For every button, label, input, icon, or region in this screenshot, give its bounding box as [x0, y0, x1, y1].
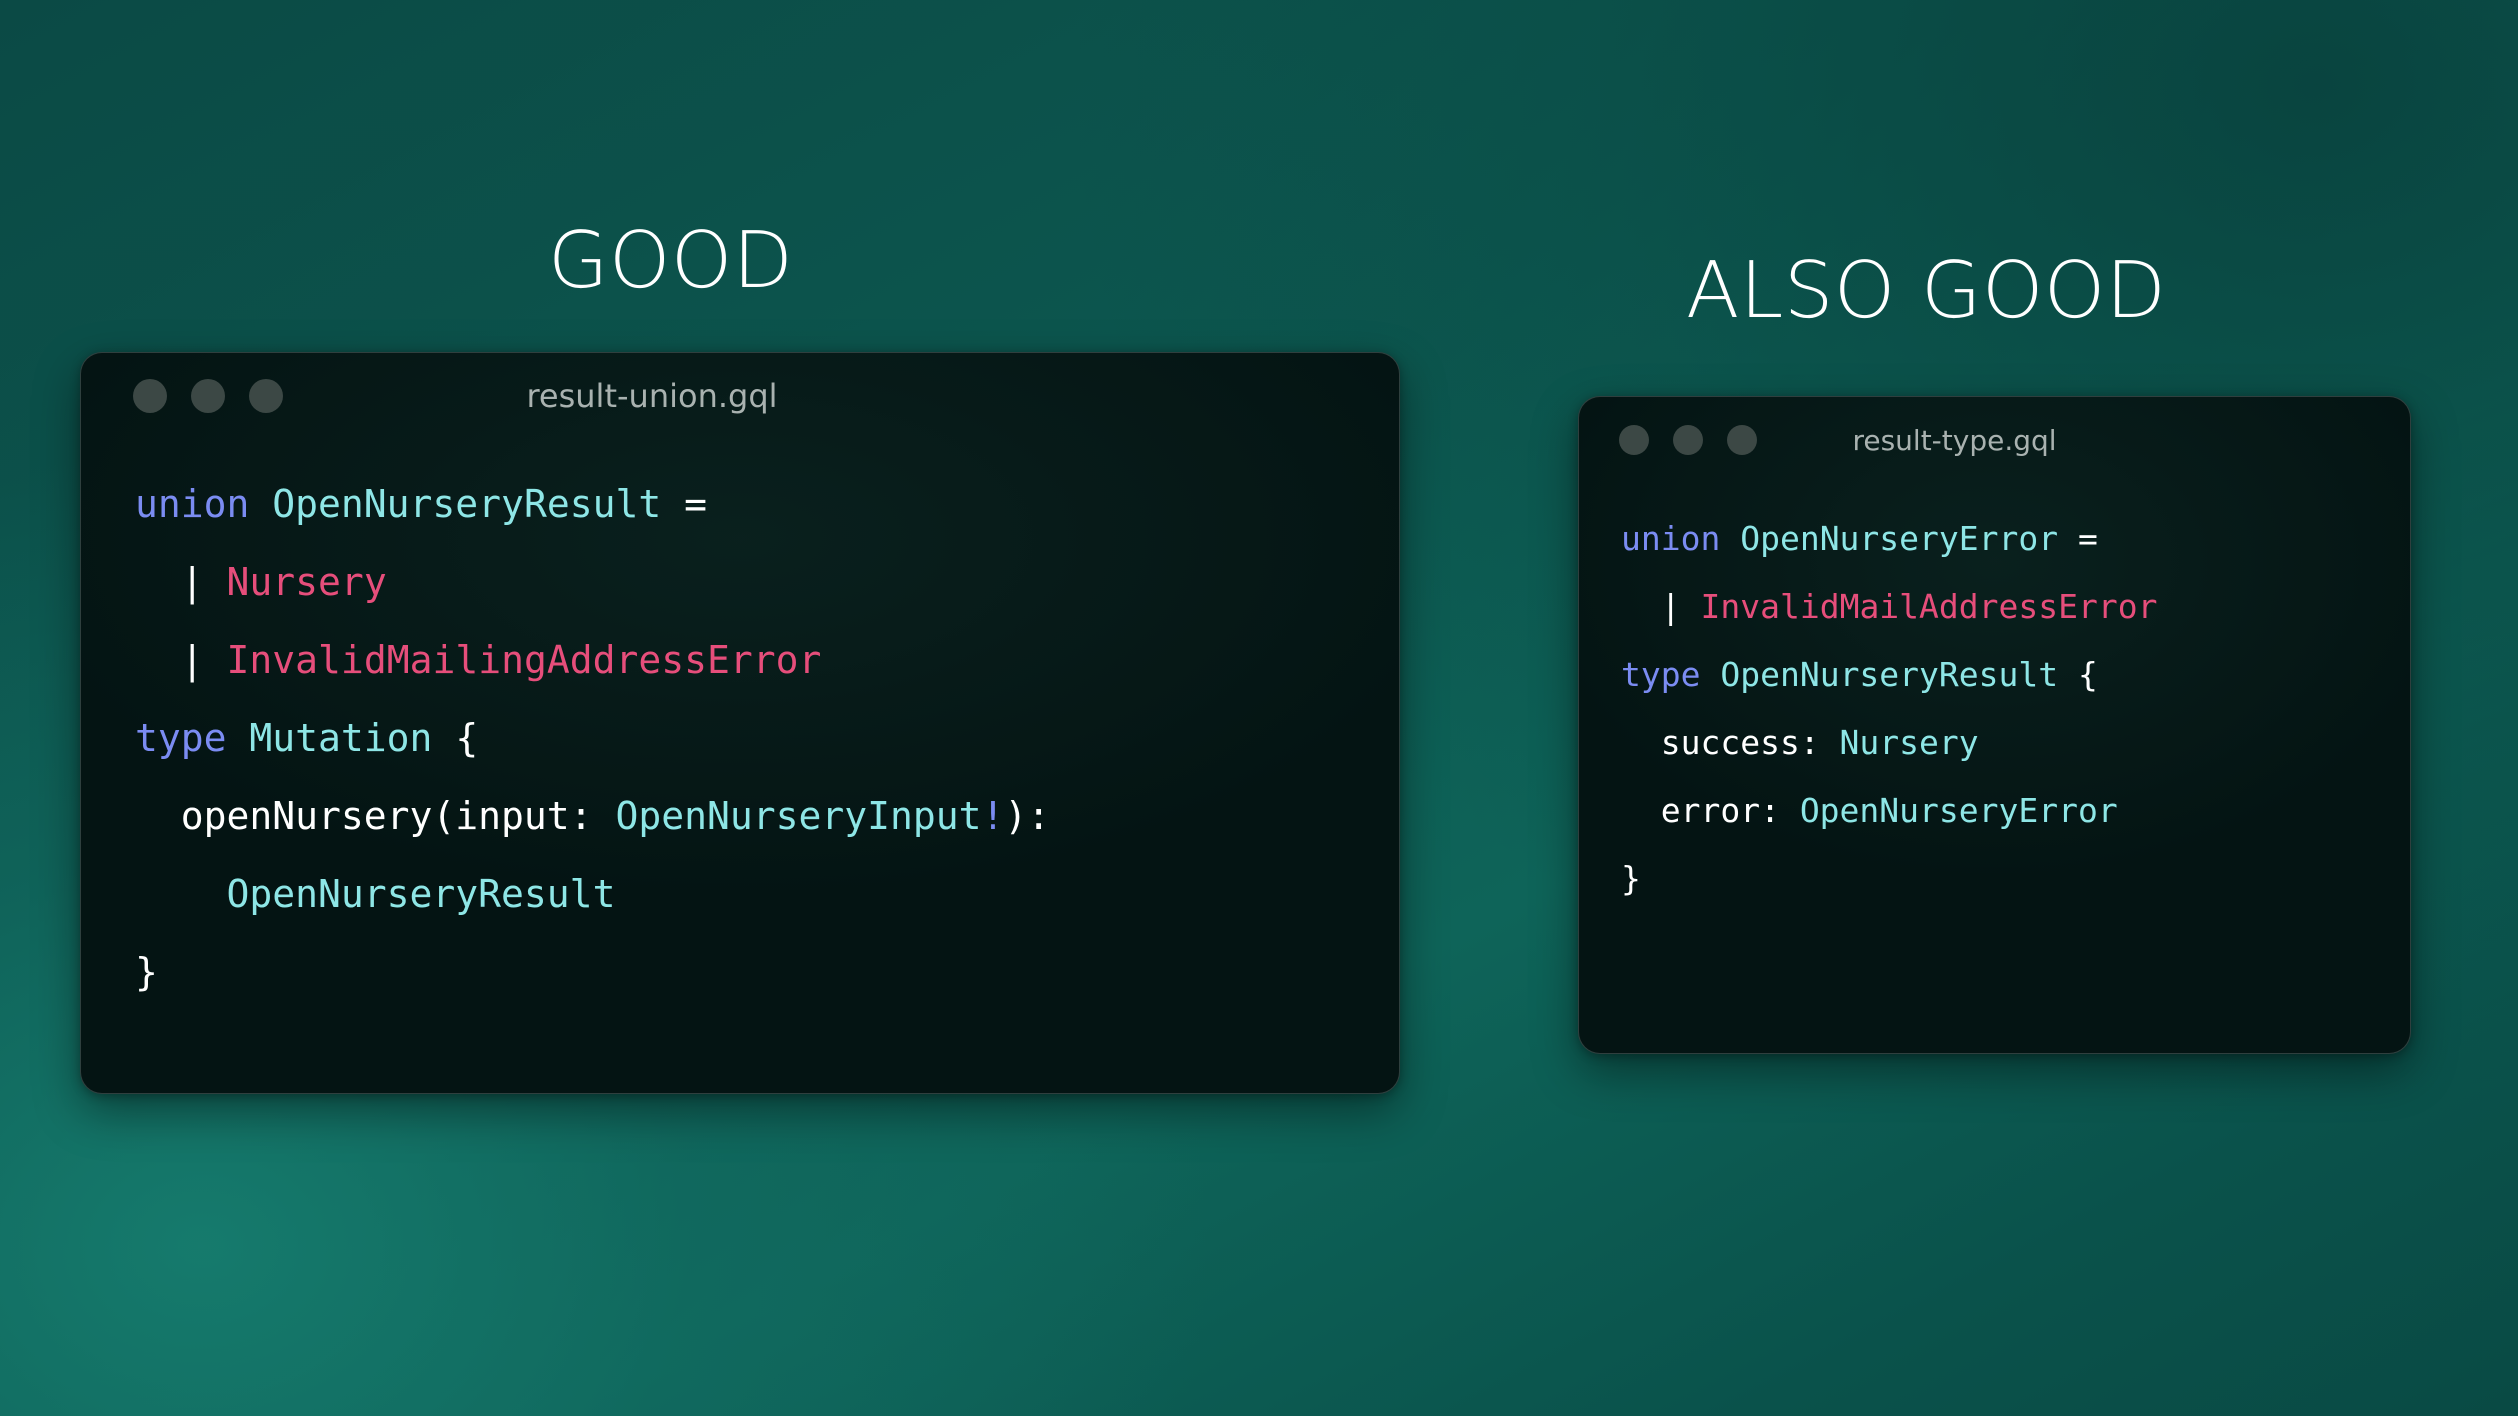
code-token: type	[1621, 655, 1700, 694]
code-line: type Mutation {	[135, 699, 1399, 777]
code-token: success:	[1621, 723, 1840, 762]
code-token	[1700, 655, 1720, 694]
code-token	[249, 482, 272, 526]
code-token: union	[1621, 519, 1720, 558]
window-titlebar: result-type.gql	[1579, 397, 2410, 483]
close-dot-icon[interactable]	[1619, 425, 1649, 455]
code-token	[135, 872, 227, 916]
code-token: OpenNurseryError	[1800, 791, 2118, 830]
code-token: =	[661, 482, 707, 526]
slide-canvas: GOOD ALSO GOOD result-union.gql union Op…	[0, 0, 2518, 1416]
code-window-good: result-union.gql union OpenNurseryResult…	[80, 352, 1400, 1094]
code-token	[227, 716, 250, 760]
code-token: OpenNurseryError	[1740, 519, 2058, 558]
code-token: |	[1661, 587, 1681, 626]
window-titlebar: result-union.gql	[81, 353, 1399, 439]
code-line: union OpenNurseryResult =	[135, 465, 1399, 543]
code-token	[1621, 587, 1661, 626]
code-token	[135, 638, 181, 682]
code-token: error:	[1621, 791, 1800, 830]
code-token: =	[2058, 519, 2098, 558]
code-token: }	[135, 950, 158, 994]
code-token	[1681, 587, 1701, 626]
code-token: union	[135, 482, 249, 526]
code-block-good: union OpenNurseryResult = | Nursery | In…	[81, 439, 1399, 1011]
code-token: OpenNurseryInput	[615, 794, 981, 838]
code-token	[204, 560, 227, 604]
code-token: InvalidMailAddressError	[1701, 587, 2158, 626]
window-controls	[1619, 425, 1757, 455]
code-line: | InvalidMailAddressError	[1621, 573, 2410, 641]
code-token: type	[135, 716, 227, 760]
code-line: type OpenNurseryResult {	[1621, 641, 2410, 709]
code-token: ):	[1004, 794, 1050, 838]
code-line: OpenNurseryResult	[135, 855, 1399, 933]
code-line: error: OpenNurseryError	[1621, 777, 2410, 845]
code-token: |	[181, 560, 204, 604]
window-controls	[133, 379, 283, 413]
heading-good: GOOD	[548, 222, 793, 300]
close-dot-icon[interactable]	[133, 379, 167, 413]
heading-also-good: ALSO GOOD	[1686, 252, 2166, 330]
code-token	[1720, 519, 1740, 558]
code-token: {	[432, 716, 478, 760]
code-token: }	[1621, 859, 1641, 898]
code-line: union OpenNurseryError =	[1621, 505, 2410, 573]
code-block-also-good: union OpenNurseryError = | InvalidMailAd…	[1579, 483, 2410, 913]
code-token: !	[981, 794, 1004, 838]
code-token: OpenNurseryResult	[1720, 655, 2058, 694]
code-line: | Nursery	[135, 543, 1399, 621]
code-token: Nursery	[227, 560, 387, 604]
code-token: InvalidMailingAddressError	[227, 638, 822, 682]
code-window-also-good: result-type.gql union OpenNurseryError =…	[1578, 396, 2411, 1054]
minimize-dot-icon[interactable]	[191, 379, 225, 413]
maximize-dot-icon[interactable]	[249, 379, 283, 413]
code-token: OpenNurseryResult	[227, 872, 616, 916]
code-token: {	[2058, 655, 2098, 694]
code-token: OpenNurseryResult	[272, 482, 661, 526]
code-token: |	[181, 638, 204, 682]
code-token: Mutation	[249, 716, 432, 760]
code-token: openNursery(input:	[135, 794, 615, 838]
code-token	[135, 560, 181, 604]
code-line: | InvalidMailingAddressError	[135, 621, 1399, 699]
code-line: }	[135, 933, 1399, 1011]
code-token	[204, 638, 227, 682]
code-line: success: Nursery	[1621, 709, 2410, 777]
maximize-dot-icon[interactable]	[1727, 425, 1757, 455]
minimize-dot-icon[interactable]	[1673, 425, 1703, 455]
code-line: openNursery(input: OpenNurseryInput!):	[135, 777, 1399, 855]
code-line: }	[1621, 845, 2410, 913]
code-token: Nursery	[1840, 723, 1979, 762]
